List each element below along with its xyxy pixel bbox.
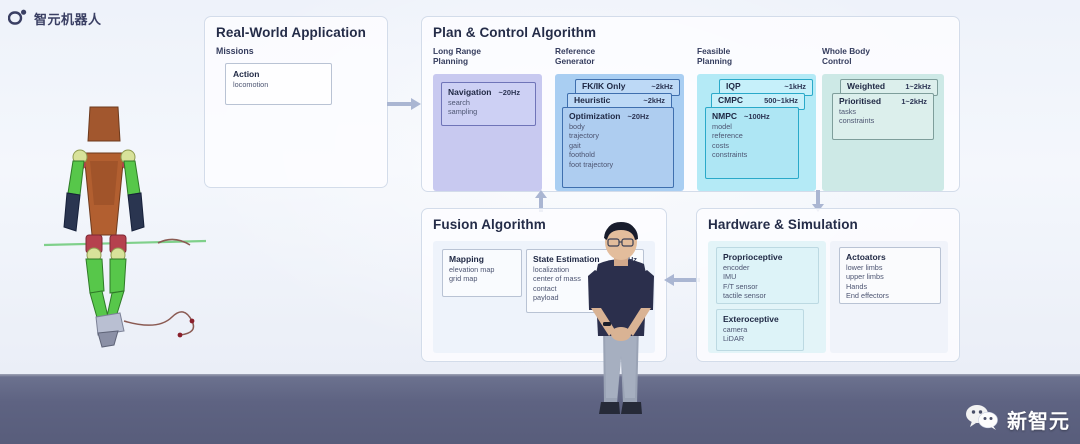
block-optimization-name: Optimization: [569, 111, 620, 121]
block-optimization-item-2: gait: [569, 141, 667, 150]
block-prioritised-item-1: constraints: [839, 116, 927, 125]
block-navigation-hz: ~20Hz: [498, 88, 520, 97]
zhiyuan-logo-icon: [8, 8, 28, 28]
block-prioritised-hz: 1~2kHz: [901, 97, 927, 106]
panel-hardware-simulation[interactable]: Hardware & Simulation Proprioceptive enc…: [696, 208, 960, 362]
block-action-name: Action: [233, 69, 259, 79]
block-exteroceptive-item-1: LiDAR: [723, 334, 797, 343]
block-navigation-name: Navigation: [448, 87, 491, 97]
channel-watermark: 新智元: [965, 403, 1070, 436]
watermark-text: 新智元: [1007, 405, 1070, 434]
block-proprioceptive[interactable]: Proprioceptive encoder IMU F/T sensor ta…: [716, 247, 819, 304]
block-iqp-name: IQP: [726, 81, 741, 91]
brand-logo-text: 智元机器人: [34, 9, 102, 28]
column-long-range-planning: Long Range Planning: [433, 47, 481, 67]
panel-title-plan-control: Plan & Control Algorithm: [433, 25, 596, 40]
block-exteroceptive-item-0: camera: [723, 325, 797, 334]
block-nmpc-name: NMPC: [712, 111, 737, 121]
column-title-reference-line2: Generator: [555, 57, 595, 67]
block-optimization-item-3: foothold: [569, 150, 667, 159]
block-heuristic-name: Heuristic: [574, 95, 610, 105]
column-whole-body-control: Whole Body Control: [822, 47, 870, 67]
panel-title-hardware: Hardware & Simulation: [708, 217, 858, 232]
humanoid-robot-illustration: [40, 95, 210, 350]
block-heuristic-hz: ~2kHz: [643, 96, 665, 105]
block-proprioceptive-item-1: IMU: [723, 272, 812, 281]
panel-title-fusion: Fusion Algorithm: [433, 217, 546, 232]
block-nmpc[interactable]: NMPC ~100Hz model reference costs constr…: [705, 107, 799, 179]
block-exteroceptive[interactable]: Exteroceptive camera LiDAR: [716, 309, 804, 351]
block-nmpc-item-0: model: [712, 122, 792, 131]
block-proprioceptive-item-0: encoder: [723, 263, 812, 272]
block-optimization[interactable]: Optimization ~20Hz body trajectory gait …: [562, 107, 674, 188]
block-navigation-item-1: sampling: [448, 107, 529, 116]
block-fk-ik-only-name: FK/IK Only: [582, 81, 625, 91]
block-fk-ik-only-hz: ~2kHz: [651, 82, 673, 91]
block-proprioceptive-item-2: F/T sensor: [723, 282, 812, 291]
subtitle-missions: Missions: [216, 46, 254, 56]
block-proprioceptive-name: Proprioceptive: [723, 252, 783, 262]
block-optimization-hz: ~20Hz: [627, 112, 649, 121]
arrow-hardware-to-fusion: [664, 274, 700, 286]
block-optimization-item-4: foot trajectory: [569, 160, 667, 169]
column-title-long-range-line2: Planning: [433, 57, 481, 67]
block-actoators-name: Actoators: [846, 252, 886, 262]
block-proprioceptive-item-3: tactile sensor: [723, 291, 812, 300]
slide-scene: 智元机器人: [0, 0, 1080, 444]
block-prioritised[interactable]: Prioritised 1~2kHz tasks constraints: [832, 93, 934, 140]
column-title-whole-body-line2: Control: [822, 57, 870, 67]
block-optimization-item-1: trajectory: [569, 131, 667, 140]
block-navigation-item-0: search: [448, 98, 529, 107]
panel-title-real-world: Real-World Application: [216, 25, 366, 40]
wechat-icon: [965, 403, 999, 436]
block-cmpc-name: CMPC: [718, 95, 743, 105]
block-prioritised-name: Prioritised: [839, 96, 881, 106]
block-actoators-item-2: Hands: [846, 282, 934, 291]
panel-plan-control-algorithm[interactable]: Plan & Control Algorithm Long Range Plan…: [421, 16, 960, 192]
block-nmpc-item-3: constraints: [712, 150, 792, 159]
block-prioritised-item-0: tasks: [839, 107, 927, 116]
block-exteroceptive-name: Exteroceptive: [723, 314, 779, 324]
block-action-item-0: locomotion: [233, 80, 324, 89]
block-nmpc-item-1: reference: [712, 131, 792, 140]
block-optimization-item-0: body: [569, 122, 667, 131]
column-reference-generator: Reference Generator: [555, 47, 595, 67]
block-weighted-hz: 1~2kHz: [905, 82, 931, 91]
block-navigation[interactable]: Navigation ~20Hz search sampling: [441, 82, 536, 126]
block-mapping-item-0: elevation map: [449, 265, 515, 274]
block-actoators-item-1: upper limbs: [846, 272, 934, 281]
block-cmpc-hz: 500~1kHz: [764, 96, 798, 105]
block-iqp-hz: ~1kHz: [784, 82, 806, 91]
block-weighted-name: Weighted: [847, 81, 885, 91]
stage-floor: [0, 374, 1080, 444]
block-mapping-name: Mapping: [449, 254, 484, 264]
arrow-realworld-to-plan: [387, 98, 421, 110]
column-feasible-planning: Feasible Planning: [697, 47, 732, 67]
block-actoators-item-3: End effectors: [846, 291, 934, 300]
column-title-feasible-line2: Planning: [697, 57, 732, 67]
block-mapping-item-1: grid map: [449, 274, 515, 283]
block-actoators-item-0: lower limbs: [846, 263, 934, 272]
presenter-figure: [575, 218, 667, 430]
panel-real-world-application[interactable]: Real-World Application Missions Action l…: [204, 16, 388, 188]
block-nmpc-item-2: costs: [712, 141, 792, 150]
block-actoators[interactable]: Actoators lower limbs upper limbs Hands …: [839, 247, 941, 304]
block-mapping[interactable]: Mapping elevation map grid map: [442, 249, 522, 297]
block-nmpc-hz: ~100Hz: [744, 112, 770, 121]
block-action[interactable]: Action locomotion: [225, 63, 332, 105]
brand-logo: 智元机器人: [8, 8, 102, 28]
